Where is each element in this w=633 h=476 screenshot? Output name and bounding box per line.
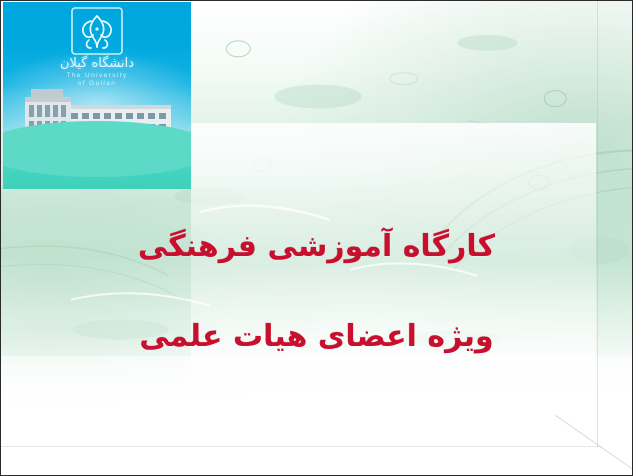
logo-teal-base (3, 147, 191, 189)
university-logo-image: دانشگاه گیلان The University of Guilan (3, 2, 191, 189)
slide-title-block: کارگاه آموزشی فرهنگی ویژه اعضای هیات علم… (1, 225, 632, 359)
logo-name-english-line1: The University (3, 72, 191, 80)
decorative-frame-line-vertical (597, 1, 598, 447)
bottom-fade-panel (1, 356, 633, 476)
logo-name-persian: دانشگاه گیلان (3, 56, 191, 71)
decorative-frame-line-horizontal (1, 446, 602, 447)
presentation-slide: دانشگاه گیلان The University of Guilan (0, 0, 633, 476)
title-line-1: کارگاه آموزشی فرهنگی (1, 225, 632, 269)
corner-diagonal-accent (552, 413, 632, 475)
title-line-2: ویژه اعضای هیات علمی (1, 315, 632, 359)
logo-name-english: The University of Guilan (3, 72, 191, 88)
guilan-emblem-icon (70, 7, 124, 59)
